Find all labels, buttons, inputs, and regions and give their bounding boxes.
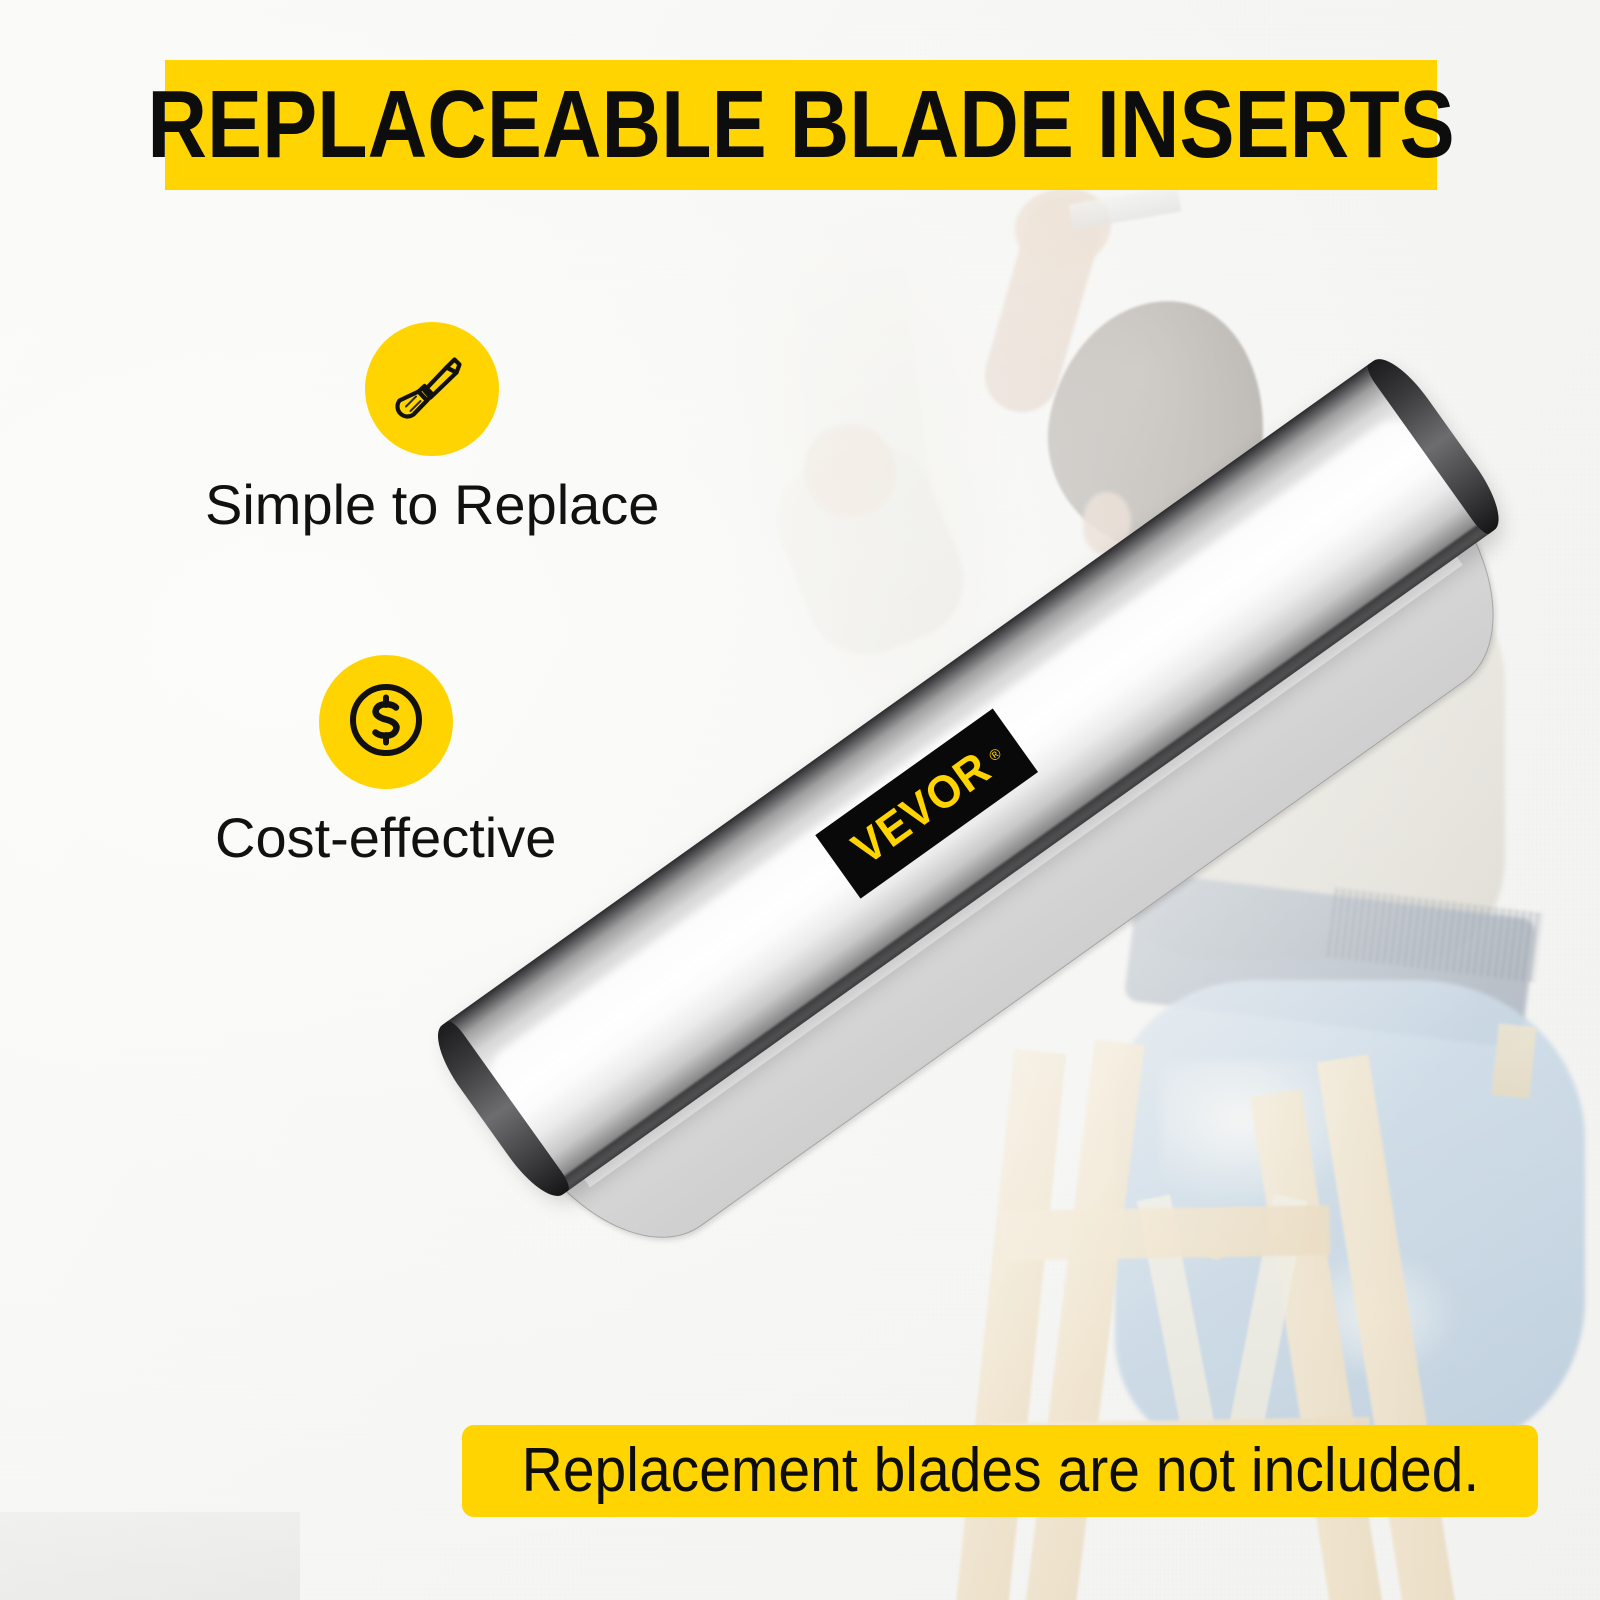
- trademark-symbol: ®: [986, 745, 1005, 765]
- page-title: REPLACEABLE BLADE INSERTS: [147, 77, 1454, 173]
- stainless-handle: VEVOR®: [428, 350, 1509, 1205]
- tool-rotation-wrapper: VEVOR®: [428, 350, 1563, 1279]
- footer-note: Replacement blades are not included.: [521, 1440, 1479, 1502]
- footer-banner: Replacement blades are not included.: [462, 1425, 1538, 1517]
- handle-lower-shadow: [548, 514, 1498, 1195]
- product-image-skimming-blade: VEVOR®: [430, 300, 1560, 1330]
- dollar-coin-icon: [340, 674, 432, 771]
- product-marketing-image: REPLACEABLE BLADE INSERTS: [0, 0, 1600, 1600]
- floor-strip: [0, 1512, 300, 1600]
- header-banner: REPLACEABLE BLADE INSERTS: [165, 60, 1437, 190]
- brand-name: VEVOR: [844, 743, 998, 871]
